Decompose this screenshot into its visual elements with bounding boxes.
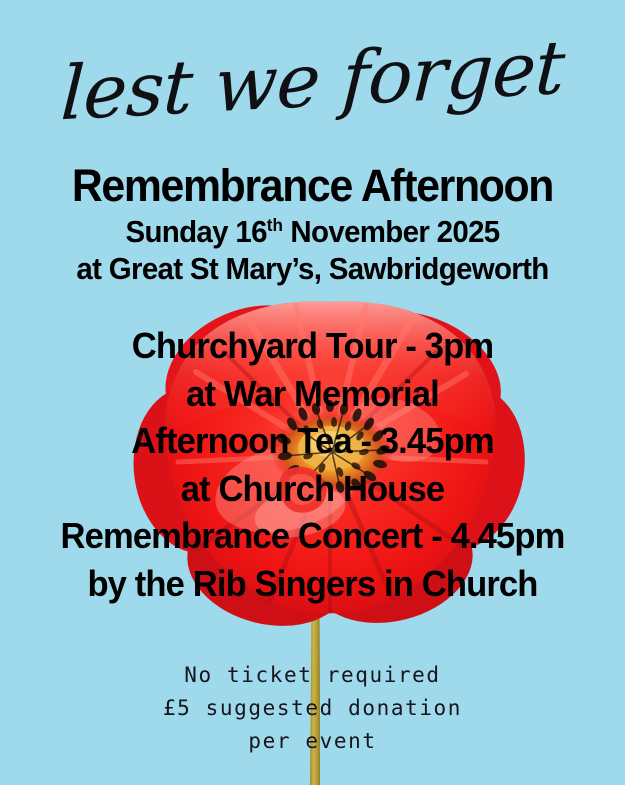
event-venue: at Great St Mary’s, Sawbridgeworth xyxy=(16,253,610,286)
poster-canvas: lest we forget Remembrance Afternoon Sun… xyxy=(0,0,625,785)
schedule-item: at War Memorial xyxy=(13,370,613,418)
poster-text-layer: lest we forget Remembrance Afternoon Sun… xyxy=(0,0,625,785)
event-date: Sunday 16th November 2025 xyxy=(16,216,610,249)
ticket-notes: No ticket required £5 suggested donation… xyxy=(0,659,625,759)
lest-we-forget-script: lest we forget xyxy=(0,27,625,134)
schedule-item: Remembrance Concert - 4.45pm xyxy=(13,512,613,560)
page-title: Remembrance Afternoon xyxy=(16,163,610,209)
note-line: £5 suggested donation xyxy=(0,692,625,725)
schedule-item: Afternoon Tea - 3.45pm xyxy=(13,417,613,465)
event-date-ordinal: th xyxy=(267,215,283,235)
schedule-item: Churchyard Tour - 3pm xyxy=(13,322,613,370)
note-line: per event xyxy=(0,725,625,758)
schedule-list: Churchyard Tour - 3pm at War Memorial Af… xyxy=(0,322,625,607)
schedule-item: by the Rib Singers in Church xyxy=(13,560,613,608)
event-date-prefix: Sunday 16 xyxy=(125,214,266,249)
note-line: No ticket required xyxy=(0,659,625,692)
schedule-item: at Church House xyxy=(13,465,613,513)
event-date-suffix: November 2025 xyxy=(283,214,500,249)
